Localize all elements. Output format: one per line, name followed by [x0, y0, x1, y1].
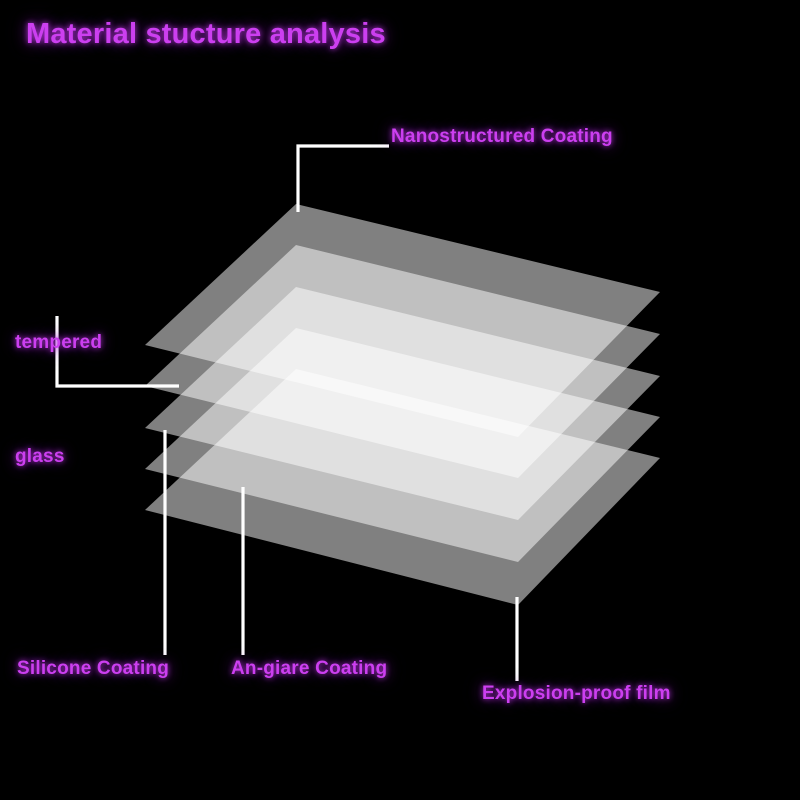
layer-stack-diagram	[0, 0, 800, 800]
label-silicone-coating: Silicone Coating	[17, 658, 169, 680]
leader-nanostructured-line	[298, 146, 389, 212]
label-tempered-glass-line2: glass	[15, 438, 102, 476]
label-antiglare-coating: An-giare Coating	[231, 658, 387, 680]
layer-stack-group	[145, 204, 660, 605]
diagram-canvas: Material stucture analysis Nanostructure…	[0, 0, 800, 800]
label-tempered-glass-line1: tempered	[15, 324, 102, 362]
label-tempered-glass: tempered glass	[15, 248, 102, 552]
label-nanostructured-coating: Nanostructured Coating	[391, 126, 613, 148]
page-title: Material stucture analysis	[26, 18, 386, 51]
label-explosion-proof-film: Explosion-proof film	[482, 683, 671, 705]
